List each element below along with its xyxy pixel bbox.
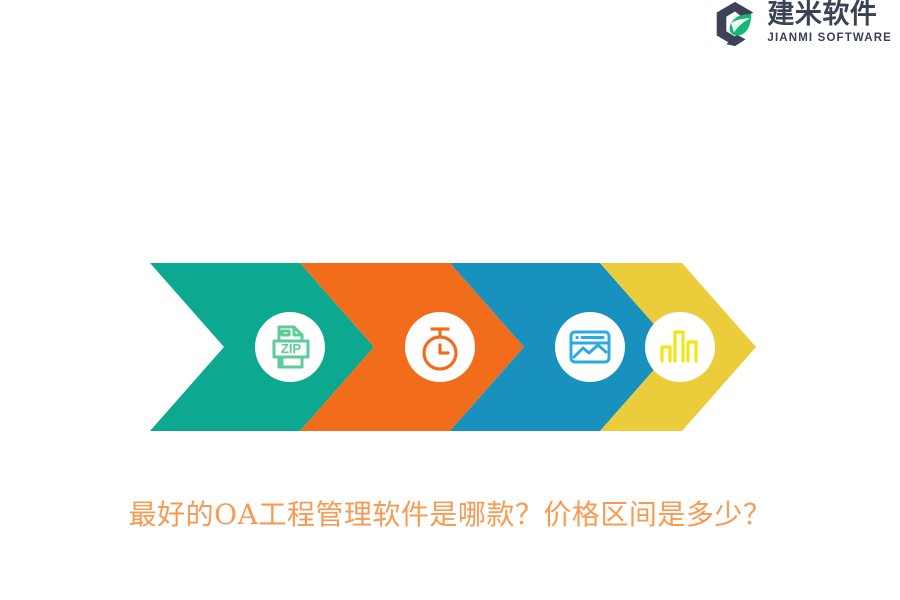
jianmi-leaf-hexagon-logo-icon: [710, 0, 758, 48]
chevron-process-banner: ZIP: [150, 263, 756, 431]
brand-name-cn: 建米软件: [767, 1, 877, 29]
chevron-banner-graphic: ZIP: [150, 263, 756, 431]
icon-circle-3: [555, 312, 625, 382]
brand-logo[interactable]: 建米软件 JIANMI SOFTWARE: [710, 0, 892, 50]
icon-circle-4: [645, 312, 715, 382]
svg-text:ZIP: ZIP: [281, 341, 302, 356]
brand-text-block: 建米软件 JIANMI SOFTWARE: [767, 0, 892, 45]
page-title: 最好的OA工程管理软件是哪款？价格区间是多少？: [0, 495, 900, 535]
brand-name-en: JIANMI SOFTWARE: [767, 31, 892, 45]
